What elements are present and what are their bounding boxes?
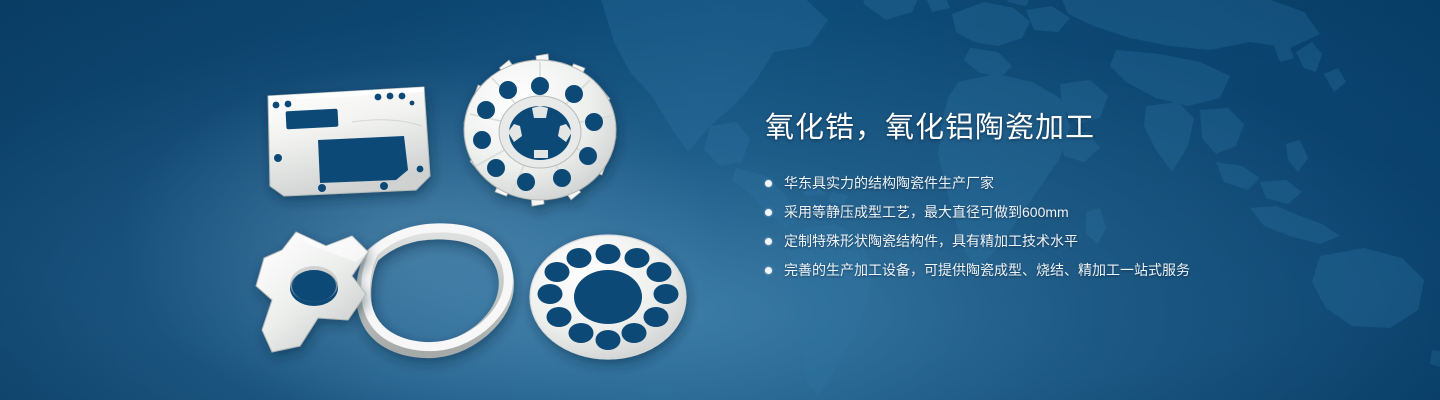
bullet-dot-icon [765,209,772,216]
feature-text: 定制特殊形状陶瓷结构件，具有精加工技术水平 [784,230,1078,252]
ceramic-perforated-annular-disc [530,235,686,359]
banner-feature-list: 华东具实力的结构陶瓷件生产厂家 采用等静压成型工艺，最大直径可做到600mm 定… [765,172,1385,281]
feature-text: 完善的生产加工设备，可提供陶瓷成型、烧结、精加工一站式服务 [784,259,1190,281]
promo-banner: 氧化锆，氧化铝陶瓷加工 华东具实力的结构陶瓷件生产厂家 采用等静压成型工艺，最大… [0,0,1440,400]
feature-text: 采用等静压成型工艺，最大直径可做到600mm [784,201,1069,223]
bullet-dot-icon [765,238,772,245]
banner-headline: 氧化锆，氧化铝陶瓷加工 [765,108,1385,148]
product-photo-cluster [0,0,760,400]
ceramic-machined-plate [268,87,430,196]
bullet-dot-icon [765,267,772,274]
banner-copy-block: 氧化锆，氧化铝陶瓷加工 华东具实力的结构陶瓷件生产厂家 采用等静压成型工艺，最大… [765,108,1385,288]
feature-text: 华东具实力的结构陶瓷件生产厂家 [784,172,994,194]
bullet-dot-icon [765,180,772,187]
list-item: 完善的生产加工设备，可提供陶瓷成型、烧结、精加工一站式服务 [765,259,1385,281]
list-item: 定制特殊形状陶瓷结构件，具有精加工技术水平 [765,230,1385,252]
list-item: 华东具实力的结构陶瓷件生产厂家 [765,172,1385,194]
list-item: 采用等静压成型工艺，最大直径可做到600mm [765,201,1385,223]
